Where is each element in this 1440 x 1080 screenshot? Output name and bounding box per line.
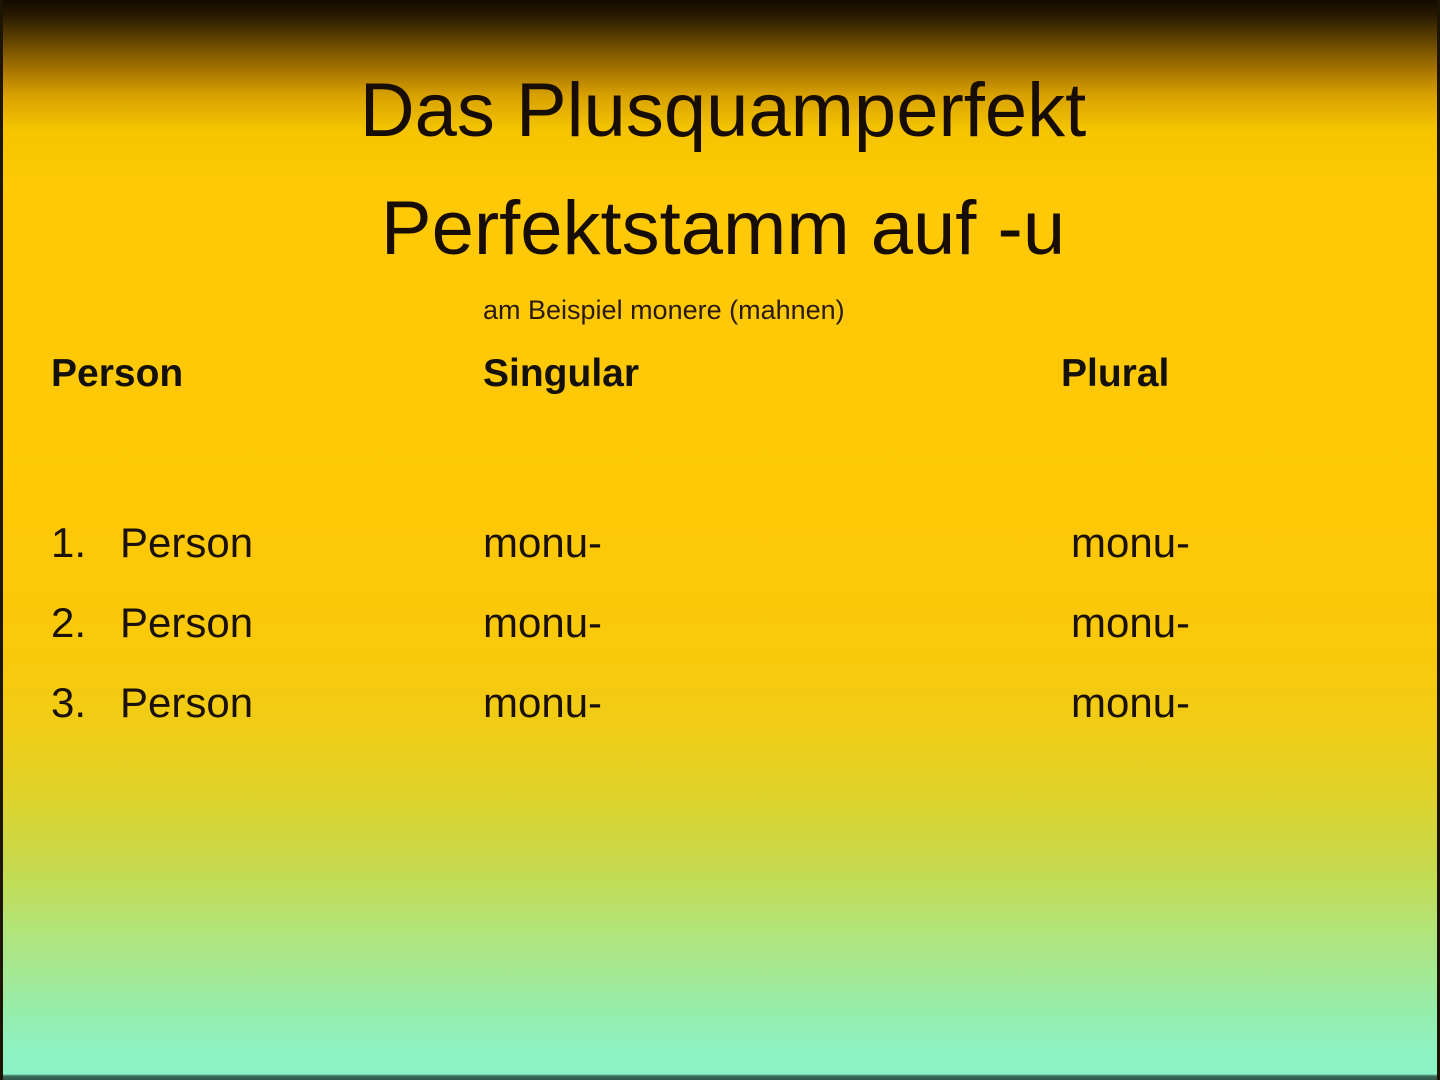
title-line-2: Perfektstamm auf -u [3,170,1440,288]
row-person-label: Person [120,672,253,734]
row-plural-form: monu- [1071,592,1190,654]
row-singular-form: monu- [483,592,602,654]
row-singular-form: monu- [483,512,602,574]
row-person-label: Person [120,512,253,574]
presentation-slide: Das Plusquamperfekt Perfektstamm auf -u … [0,0,1440,1080]
row-number: 3. [51,672,111,734]
table-header-row: Person Singular Plural [3,348,1440,410]
row-number: 2. [51,592,111,654]
column-header-plural: Plural [1061,348,1169,400]
table-row: 3. Person monu- monu- [3,672,1440,752]
row-plural-form: monu- [1071,512,1190,574]
slide-subtitle: am Beispiel monere (mahnen) [483,293,845,327]
conjugation-table: Person Singular Plural 1. Person monu- m… [3,348,1440,410]
row-number: 1. [51,512,111,574]
row-person-label: Person [120,592,253,654]
row-singular-form: monu- [483,672,602,734]
title-line-1: Das Plusquamperfekt [3,52,1440,170]
slide-title: Das Plusquamperfekt Perfektstamm auf -u [3,52,1440,288]
column-header-person: Person [51,348,183,400]
table-row: 2. Person monu- monu- [3,592,1440,672]
column-header-singular: Singular [483,348,639,400]
table-body: 1. Person monu- monu- 2. Person monu- mo… [3,512,1440,752]
row-plural-form: monu- [1071,672,1190,734]
table-row: 1. Person monu- monu- [3,512,1440,592]
